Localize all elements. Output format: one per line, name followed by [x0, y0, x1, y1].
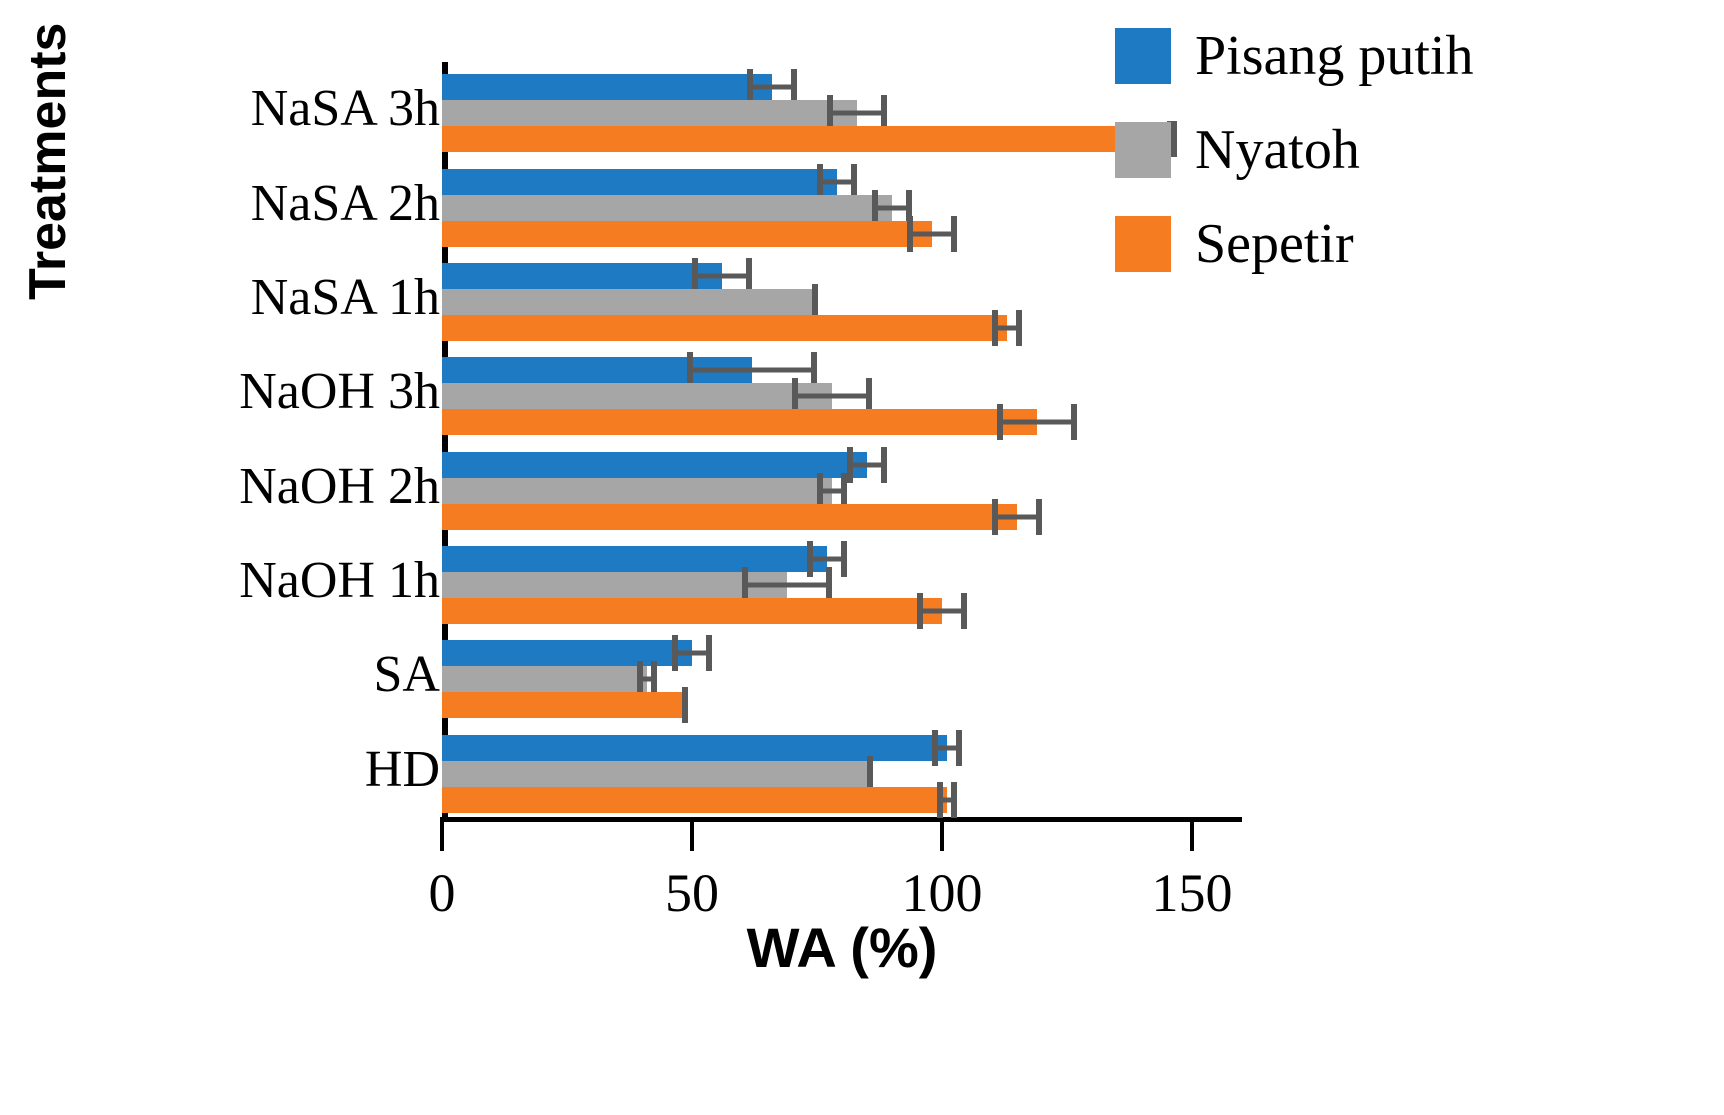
x-axis-tick [1190, 817, 1194, 851]
bar [442, 692, 682, 718]
bar [442, 546, 827, 572]
bar-group [442, 640, 1242, 718]
bar [442, 504, 1017, 530]
y-axis-category-label: NaSA 2h [251, 178, 440, 230]
error-bar [792, 383, 872, 409]
bar [442, 126, 1172, 152]
legend-item: Sepetir [1115, 216, 1473, 272]
error-bar [812, 289, 818, 315]
error-bar [992, 504, 1042, 530]
bar [442, 572, 787, 598]
y-axis-category-label: NaOH 1h [239, 555, 440, 607]
error-bar-line [997, 420, 1077, 425]
error-bar-line [827, 111, 887, 116]
x-axis-title: WA (%) [442, 915, 1242, 980]
error-bar-line [907, 231, 957, 236]
error-bar-line [747, 85, 797, 90]
error-bar-line [992, 514, 1042, 519]
legend-swatch [1115, 122, 1171, 178]
bar [442, 100, 857, 126]
bar [442, 478, 832, 504]
error-bar-cap [682, 687, 688, 723]
legend: Pisang putihNyatohSepetir [1115, 28, 1473, 310]
error-bar [672, 640, 712, 666]
error-bar-cap [932, 730, 938, 766]
chart-figure: Treatments NaSA 3hNaSA 2hNaSA 1hNaOH 3hN… [0, 0, 1724, 1115]
error-bar [917, 598, 967, 624]
bar [442, 409, 1037, 435]
error-bar [907, 221, 957, 247]
error-bar-cap [847, 447, 853, 483]
error-bar-cap [961, 593, 967, 629]
y-axis-title: Treatments [18, 23, 78, 300]
error-bar-cap [841, 541, 847, 577]
bar-group [442, 735, 1242, 813]
y-axis-category-label: NaSA 3h [251, 83, 440, 135]
error-bar [872, 195, 912, 221]
error-bar [932, 735, 962, 761]
error-bar-cap [672, 635, 678, 671]
error-bar [747, 74, 797, 100]
legend-label: Sepetir [1195, 216, 1354, 272]
legend-label: Nyatoh [1195, 122, 1360, 178]
bar [442, 598, 942, 624]
error-bar-cap [881, 447, 887, 483]
error-bar-cap [1016, 310, 1022, 346]
error-bar-cap [956, 730, 962, 766]
error-bar-cap [951, 782, 957, 818]
error-bar-cap [992, 499, 998, 535]
error-bar [937, 787, 957, 813]
error-bar [742, 572, 832, 598]
error-bar [847, 452, 887, 478]
x-axis-tick [940, 817, 944, 851]
x-axis-line [442, 817, 1242, 822]
error-bar-line [692, 273, 752, 278]
error-bar-line [917, 609, 967, 614]
bar [442, 383, 832, 409]
error-bar [817, 169, 857, 195]
error-bar-cap [951, 216, 957, 252]
error-bar-line [792, 394, 872, 399]
bar [442, 221, 932, 247]
y-axis-category-label: NaOH 3h [239, 366, 440, 418]
error-bar [867, 761, 873, 787]
y-axis-category-labels: NaSA 3hNaSA 2hNaSA 1hNaOH 3hNaOH 2hNaOH … [90, 62, 440, 817]
bar-group [442, 357, 1242, 435]
legend-swatch [1115, 28, 1171, 84]
bar [442, 315, 1007, 341]
bar [442, 666, 647, 692]
y-axis-category-label: HD [365, 744, 440, 796]
x-axis-tick [440, 817, 444, 851]
bar [442, 74, 772, 100]
x-axis-tick [690, 817, 694, 851]
bar [442, 787, 947, 813]
error-bar [992, 315, 1022, 341]
error-bar-cap [1071, 404, 1077, 440]
error-bar-cap [917, 593, 923, 629]
error-bar [827, 100, 887, 126]
error-bar [692, 263, 752, 289]
error-bar-cap [907, 216, 913, 252]
legend-label: Pisang putih [1195, 28, 1473, 84]
bar-group [442, 546, 1242, 624]
y-axis-category-label: NaOH 2h [239, 461, 440, 513]
bar [442, 289, 812, 315]
error-bar [682, 692, 688, 718]
y-axis-category-label: NaSA 1h [251, 272, 440, 324]
bar [442, 761, 867, 787]
error-bar-cap [1036, 499, 1042, 535]
bar [442, 195, 892, 221]
y-axis-category-label: SA [374, 649, 440, 701]
error-bar-line [687, 368, 817, 373]
bar [442, 169, 837, 195]
bar [442, 263, 722, 289]
error-bar-cap [997, 404, 1003, 440]
legend-item: Pisang putih [1115, 28, 1473, 84]
bar [442, 452, 867, 478]
error-bar-cap [992, 310, 998, 346]
error-bar [817, 478, 847, 504]
error-bar-line [742, 583, 832, 588]
bar-group [442, 452, 1242, 530]
legend-item: Nyatoh [1115, 122, 1473, 178]
error-bar-cap [706, 635, 712, 671]
legend-swatch [1115, 216, 1171, 272]
error-bar-cap [937, 782, 943, 818]
error-bar [637, 666, 657, 692]
error-bar [997, 409, 1077, 435]
